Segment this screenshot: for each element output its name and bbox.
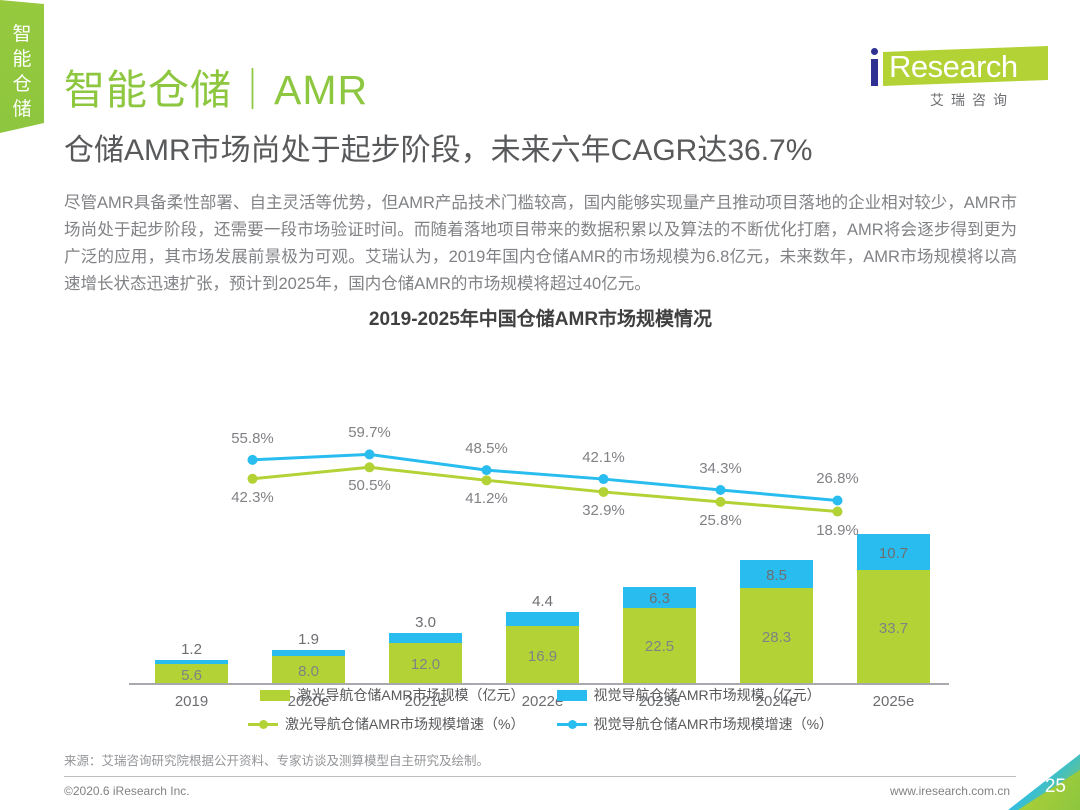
chart-bar-value-vision: 1.2 (155, 641, 228, 658)
chart-point-label-vision-growth: 55.8% (208, 430, 298, 447)
chart-bar-value-vision: 6.3 (623, 590, 696, 607)
section-tab: 智 能 仓 储 (0, 0, 44, 133)
chart-bar-value-laser: 16.9 (506, 648, 579, 665)
chart-bar-value-vision: 8.5 (740, 567, 813, 584)
iresearch-logo: Research 艾瑞咨询 (853, 44, 1048, 112)
logo-mark: Research (853, 44, 1048, 88)
legend-item-vision-size[interactable]: 视觉导航仓储AMR市场规模（亿元） (557, 685, 821, 705)
chart-container: 2019-2025年中国仓储AMR市场规模情况 5.61.28.01.912.0… (64, 300, 1017, 750)
legend-label: 激光导航仓储AMR市场规模增速（%） (285, 714, 525, 734)
chart-bar-value-laser: 8.0 (272, 663, 345, 680)
chart-line-vision-growth-marker[interactable] (482, 465, 492, 475)
legend-label: 激光导航仓储AMR市场规模（亿元） (297, 685, 524, 705)
chart-bar-value-vision: 4.4 (506, 593, 579, 610)
chart-bar-column[interactable]: 5.61.2 (155, 660, 228, 683)
chart-line-laser-growth-marker[interactable] (482, 475, 492, 485)
website-url[interactable]: www.iresearch.com.cn (890, 784, 1010, 798)
chart-point-label-laser-growth: 41.2% (442, 490, 532, 507)
chart-line-vision-growth-marker[interactable] (365, 449, 375, 459)
corner-decoration: 25 (1008, 754, 1080, 810)
chart-line-vision-growth-marker[interactable] (716, 485, 726, 495)
chart-point-label-vision-growth: 59.7% (325, 424, 415, 441)
chart-point-label-vision-growth: 34.3% (676, 460, 766, 477)
chart-bar-segment-vision[interactable] (155, 660, 228, 664)
chart-bar-column[interactable]: 12.03.0 (389, 633, 462, 683)
legend-swatch-bar-icon (557, 690, 587, 701)
chart-point-label-laser-growth: 18.9% (793, 522, 883, 539)
chart-bar-value-vision: 10.7 (857, 545, 930, 562)
section-tab-char: 能 (0, 47, 44, 72)
logo-i-dot-icon (871, 48, 878, 55)
chart-line-laser-growth-marker[interactable] (248, 474, 258, 484)
chart-line-vision-growth-marker[interactable] (599, 474, 609, 484)
section-tab-char: 仓 (0, 72, 44, 97)
legend-row-bars: 激光导航仓储AMR市场规模（亿元） 视觉导航仓储AMR市场规模（亿元） (64, 685, 1017, 705)
copyright-text: ©2020.6 iResearch Inc. (64, 784, 190, 798)
footer-divider (64, 776, 1016, 777)
chart-line-vision-growth-marker[interactable] (248, 455, 258, 465)
chart-point-label-laser-growth: 25.8% (676, 512, 766, 529)
section-tab-char: 储 (0, 97, 44, 122)
page-subtitle: 仓储AMR市场尚处于起步阶段，未来六年CAGR达36.7% (64, 125, 812, 169)
chart-bar-value-vision: 1.9 (272, 631, 345, 648)
logo-i-stem-icon (871, 59, 878, 86)
chart-point-label-vision-growth: 48.5% (442, 440, 532, 457)
logo-chinese-name: 艾瑞咨询 (897, 90, 1047, 110)
source-note: 来源：艾瑞咨询研究院根据公开资料、专家访谈及测算模型自主研究及绘制。 (64, 750, 489, 769)
page-title: 智能仓储｜AMR (64, 56, 368, 116)
chart-bar-value-laser: 12.0 (389, 656, 462, 673)
chart-line-laser-growth-marker[interactable] (833, 507, 843, 517)
legend-label: 视觉导航仓储AMR市场规模增速（%） (594, 714, 834, 734)
chart-line-laser-growth-marker[interactable] (365, 462, 375, 472)
legend-item-laser-size[interactable]: 激光导航仓储AMR市场规模（亿元） (260, 685, 524, 705)
chart-point-label-vision-growth: 42.1% (559, 449, 649, 466)
legend-swatch-line-icon (557, 719, 587, 730)
chart-bar-value-laser: 22.5 (623, 638, 696, 655)
chart-bar-column[interactable]: 16.94.4 (506, 612, 579, 683)
section-tab-label: 智 能 仓 储 (0, 22, 44, 122)
chart-point-label-laser-growth: 32.9% (559, 502, 649, 519)
legend-swatch-line-icon (248, 719, 278, 730)
legend-item-vision-growth[interactable]: 视觉导航仓储AMR市场规模增速（%） (557, 714, 834, 734)
legend-swatch-bar-icon (260, 690, 290, 701)
legend-row-lines: 激光导航仓储AMR市场规模增速（%） 视觉导航仓储AMR市场规模增速（%） (64, 714, 1017, 734)
legend-label: 视觉导航仓储AMR市场规模（亿元） (594, 685, 821, 705)
chart-bar-column[interactable]: 8.01.9 (272, 650, 345, 683)
chart-point-label-laser-growth: 42.3% (208, 489, 298, 506)
chart-title: 2019-2025年中国仓储AMR市场规模情况 (64, 304, 1017, 331)
section-tab-char: 智 (0, 22, 44, 47)
chart-bar-segment-vision[interactable] (272, 650, 345, 656)
chart-plot-area: 5.61.28.01.912.03.016.94.422.56.328.38.5… (64, 338, 1017, 648)
chart-bar-value-laser: 33.7 (857, 620, 930, 637)
chart-bar-value-laser: 28.3 (740, 629, 813, 646)
page-number: 25 (1045, 776, 1066, 798)
chart-point-label-laser-growth: 50.5% (325, 477, 415, 494)
logo-wordmark: Research (889, 49, 1018, 85)
chart-bar-segment-vision[interactable] (506, 612, 579, 627)
body-paragraph: 尽管AMR具备柔性部署、自主灵活等优势，但AMR产品技术门槛较高，国内能够实现量… (64, 190, 1017, 298)
chart-line-vision-growth-marker[interactable] (833, 495, 843, 505)
chart-point-label-vision-growth: 26.8% (793, 470, 883, 487)
chart-bar-segment-vision[interactable] (389, 633, 462, 643)
legend-item-laser-growth[interactable]: 激光导航仓储AMR市场规模增速（%） (248, 714, 525, 734)
chart-bar-column[interactable]: 33.710.7 (857, 534, 930, 683)
chart-bar-value-vision: 3.0 (389, 614, 462, 631)
chart-bar-column[interactable]: 22.56.3 (623, 587, 696, 683)
chart-legend: 激光导航仓储AMR市场规模（亿元） 视觉导航仓储AMR市场规模（亿元） 激光导航… (64, 685, 1017, 743)
chart-bar-value-laser: 5.6 (155, 667, 228, 684)
chart-bar-column[interactable]: 28.38.5 (740, 560, 813, 683)
chart-line-laser-growth-marker[interactable] (599, 487, 609, 497)
chart-line-laser-growth-marker[interactable] (716, 497, 726, 507)
